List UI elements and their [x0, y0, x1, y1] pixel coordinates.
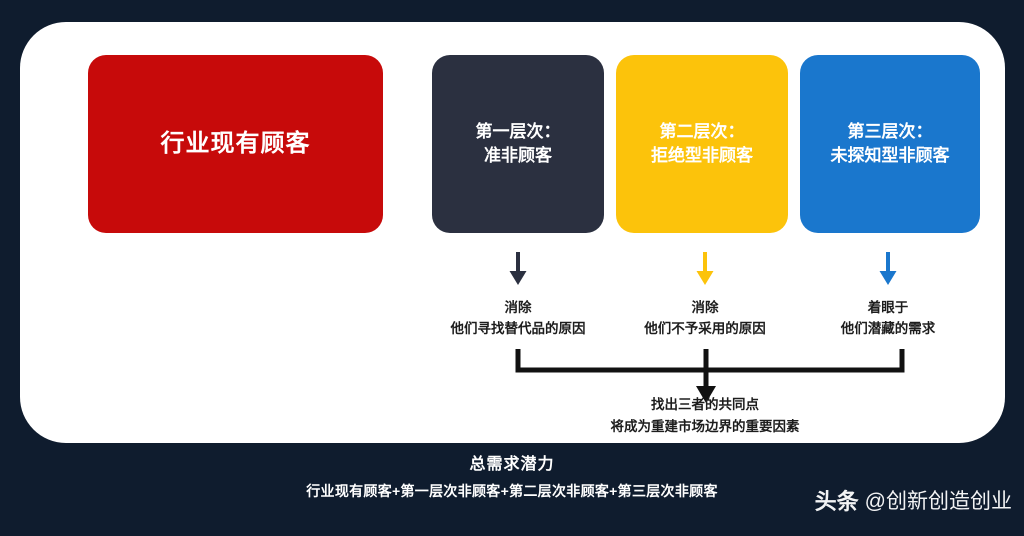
watermark-source: 头条	[815, 484, 859, 516]
caption-tier2-action: 消除 他们不予采用的原因	[644, 298, 766, 340]
box-tier1-subtitle: 准非顾客	[476, 144, 561, 168]
box-tier3-title: 第三层次：	[831, 120, 950, 144]
caption-tier3-verb: 着眼于	[841, 298, 936, 319]
box-tier2-noncustomers: 第二层次： 拒绝型非顾客	[616, 55, 788, 233]
box-existing-customers-label: 行业现有顾客	[161, 127, 311, 161]
box-existing-customers: 行业现有顾客	[88, 55, 383, 233]
box-tier1-noncustomers: 第一层次： 准非顾客	[432, 55, 604, 233]
watermark: 头条 @创新创造创业	[815, 484, 1012, 516]
caption-tier3-detail: 他们潜藏的需求	[841, 319, 936, 340]
arrow-down-tier2-icon	[692, 252, 718, 286]
conclusion-line-1: 找出三者的共同点	[611, 394, 800, 416]
conclusion-line-2: 将成为重建市场边界的重要因素	[611, 416, 800, 438]
caption-tier1-action: 消除 他们寻找替代品的原因	[451, 298, 586, 340]
arrow-down-tier3-icon	[875, 252, 901, 286]
diagram-card: 行业现有顾客 第一层次： 准非顾客 第二层次： 拒绝型非顾客 第三层次： 未探知…	[20, 22, 1005, 443]
caption-tier1-verb: 消除	[451, 298, 586, 319]
box-tier3-subtitle: 未探知型非顾客	[831, 144, 950, 168]
caption-tier3-action: 着眼于 他们潜藏的需求	[841, 298, 936, 340]
box-tier2-title: 第二层次：	[651, 120, 753, 144]
box-tier1-title: 第一层次：	[476, 120, 561, 144]
caption-tier2-verb: 消除	[644, 298, 766, 319]
footer-title: 总需求潜力	[0, 452, 1024, 478]
conclusion-text: 找出三者的共同点 将成为重建市场边界的重要因素	[611, 394, 800, 437]
arrow-down-tier1-icon	[505, 252, 531, 286]
watermark-handle: @创新创造创业	[865, 485, 1012, 515]
caption-tier1-detail: 他们寻找替代品的原因	[451, 319, 586, 340]
caption-tier2-detail: 他们不予采用的原因	[644, 319, 766, 340]
box-tier3-noncustomers: 第三层次： 未探知型非顾客	[800, 55, 980, 233]
box-tier2-subtitle: 拒绝型非顾客	[651, 144, 753, 168]
